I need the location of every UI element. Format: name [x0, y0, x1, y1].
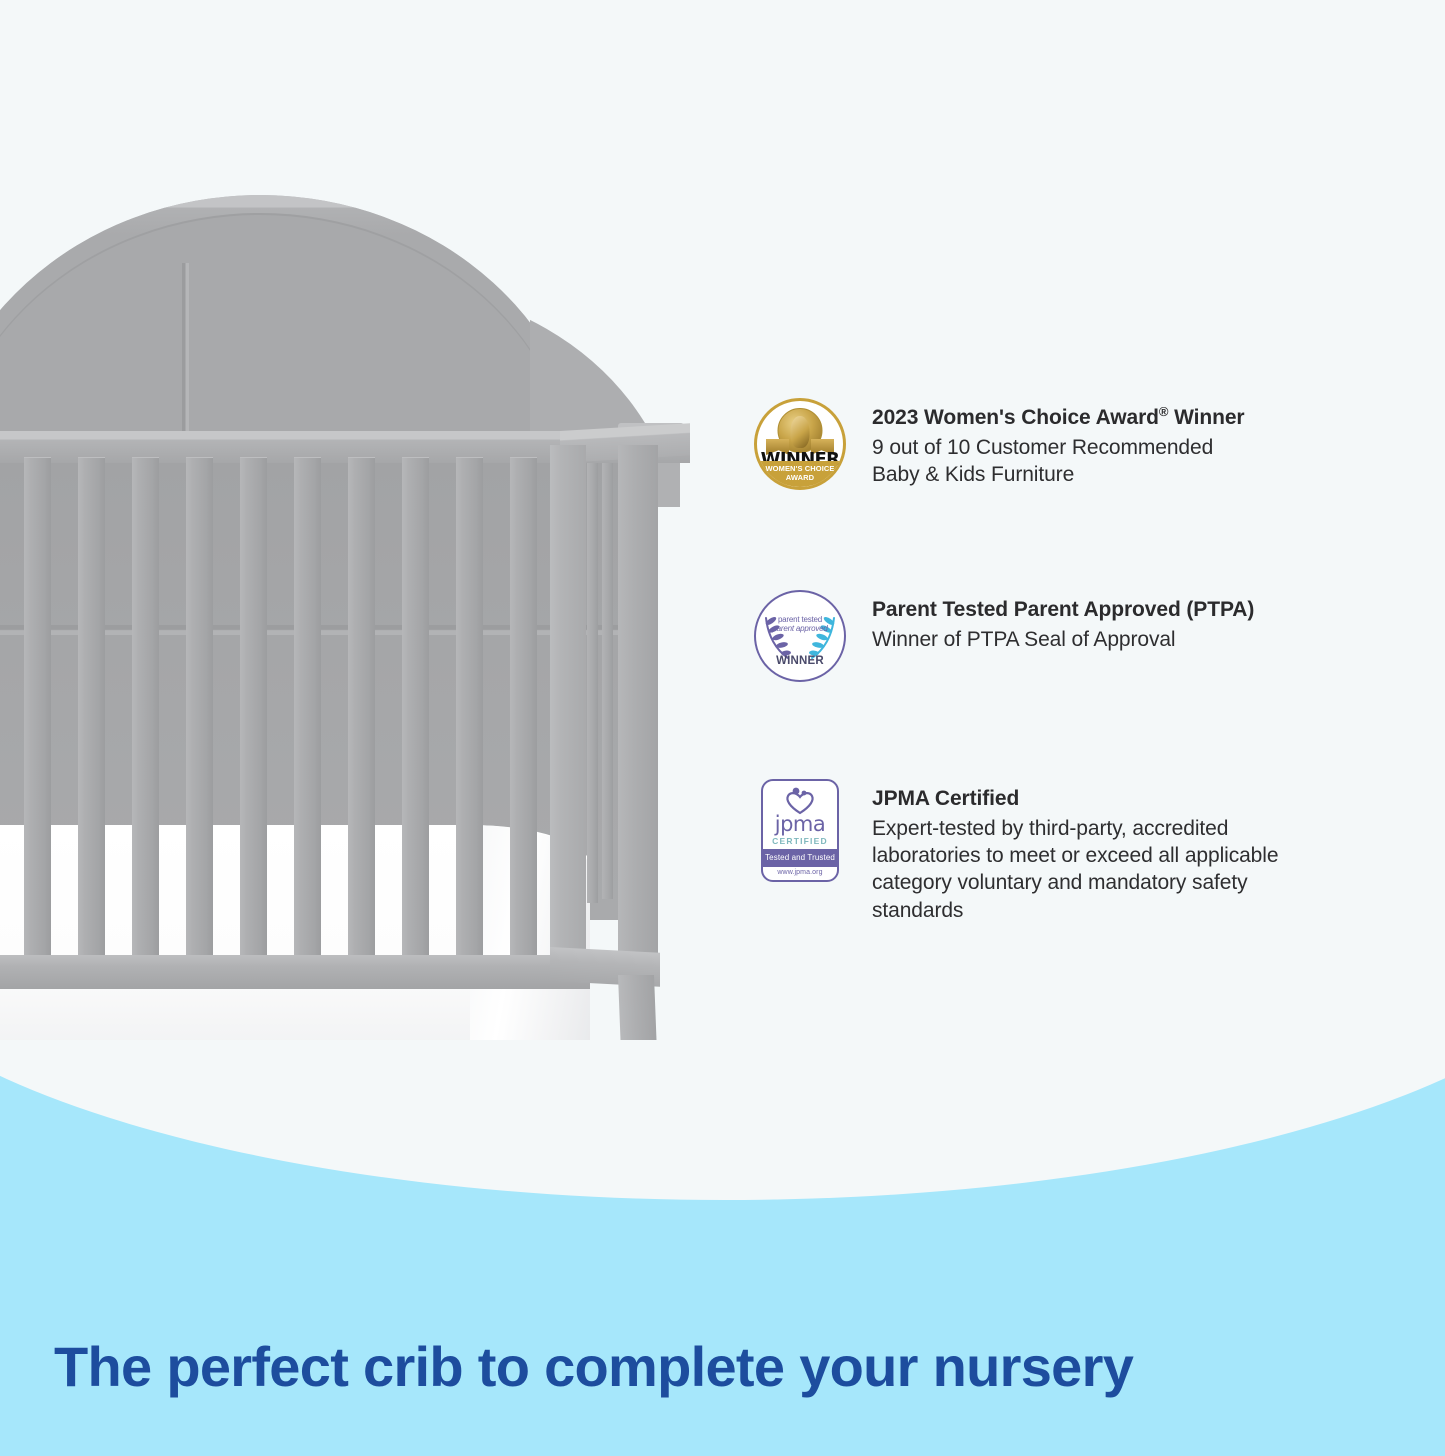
womens-choice-award-badge-icon: WINNER WOMEN'S CHOICE AWARD — [754, 398, 846, 490]
award-title-suffix: Winner — [1168, 406, 1244, 429]
product-feature-panel: WINNER WOMEN'S CHOICE AWARD 2023 Women's… — [0, 0, 1445, 1456]
jpma-tagline-bar: Tested and Trusted — [763, 849, 837, 867]
certification-list: WINNER WOMEN'S CHOICE AWARD 2023 Women's… — [752, 398, 1402, 924]
award-description: 9 out of 10 Customer Recommended Baby & … — [872, 434, 1402, 489]
badge-banner: WOMEN'S CHOICE AWARD — [757, 461, 843, 487]
badge-container: WINNER WOMEN'S CHOICE AWARD — [752, 398, 848, 490]
heart-with-parent-child-icon — [783, 787, 817, 815]
crib-front-corner-post — [550, 445, 586, 985]
award-text-block: Parent Tested Parent Approved (PTPA) Win… — [848, 590, 1402, 653]
crib-right-corner-post — [618, 445, 658, 965]
award-description: Winner of PTPA Seal of Approval — [872, 626, 1402, 653]
crib-product-image — [0, 195, 690, 1035]
crib-front-slats — [0, 457, 570, 957]
award-title: JPMA Certified — [872, 785, 1402, 813]
coin-profile-figure — [791, 416, 810, 448]
ptpa-wordmark: parent tested parent approved — [772, 616, 828, 634]
jpma-certified-badge-icon: jpma CERTIFIED Tested and Trusted www.jp… — [761, 779, 839, 882]
jpma-wordmark: jpma — [763, 814, 837, 835]
ptpa-winner-text: WINNER — [756, 655, 844, 667]
award-title-main: 2023 Women's Choice Award — [872, 406, 1159, 429]
award-title: 2023 Women's Choice Award® Winner — [872, 404, 1402, 432]
jpma-url-text: www.jpma.org — [763, 869, 837, 876]
badge-banner-line-2: AWARD — [757, 474, 843, 483]
award-title: Parent Tested Parent Approved (PTPA) — [872, 596, 1402, 624]
award-text-block: 2023 Women's Choice Award® Winner 9 out … — [848, 398, 1402, 488]
ptpa-line-2: parent approved — [772, 625, 828, 634]
award-item-jpma: jpma CERTIFIED Tested and Trusted www.jp… — [752, 779, 1402, 924]
award-description: Expert-tested by third-party, accredited… — [872, 815, 1402, 924]
award-text-block: JPMA Certified Expert-tested by third-pa… — [848, 779, 1402, 924]
badge-container: jpma CERTIFIED Tested and Trusted www.jp… — [752, 779, 848, 882]
award-item-womens-choice: WINNER WOMEN'S CHOICE AWARD 2023 Women's… — [752, 398, 1402, 490]
award-item-ptpa: parent tested parent approved WINNER Par… — [752, 590, 1402, 682]
blue-band-curved-edge — [0, 1040, 1445, 1200]
jpma-certified-text: CERTIFIED — [763, 836, 837, 846]
registered-trademark-icon: ® — [1159, 404, 1168, 419]
crib-front-bottom-rail — [0, 955, 590, 989]
page-headline: The perfect crib to complete your nurser… — [54, 1336, 1374, 1399]
badge-container: parent tested parent approved WINNER — [752, 590, 848, 682]
ptpa-badge-icon: parent tested parent approved WINNER — [754, 590, 846, 682]
